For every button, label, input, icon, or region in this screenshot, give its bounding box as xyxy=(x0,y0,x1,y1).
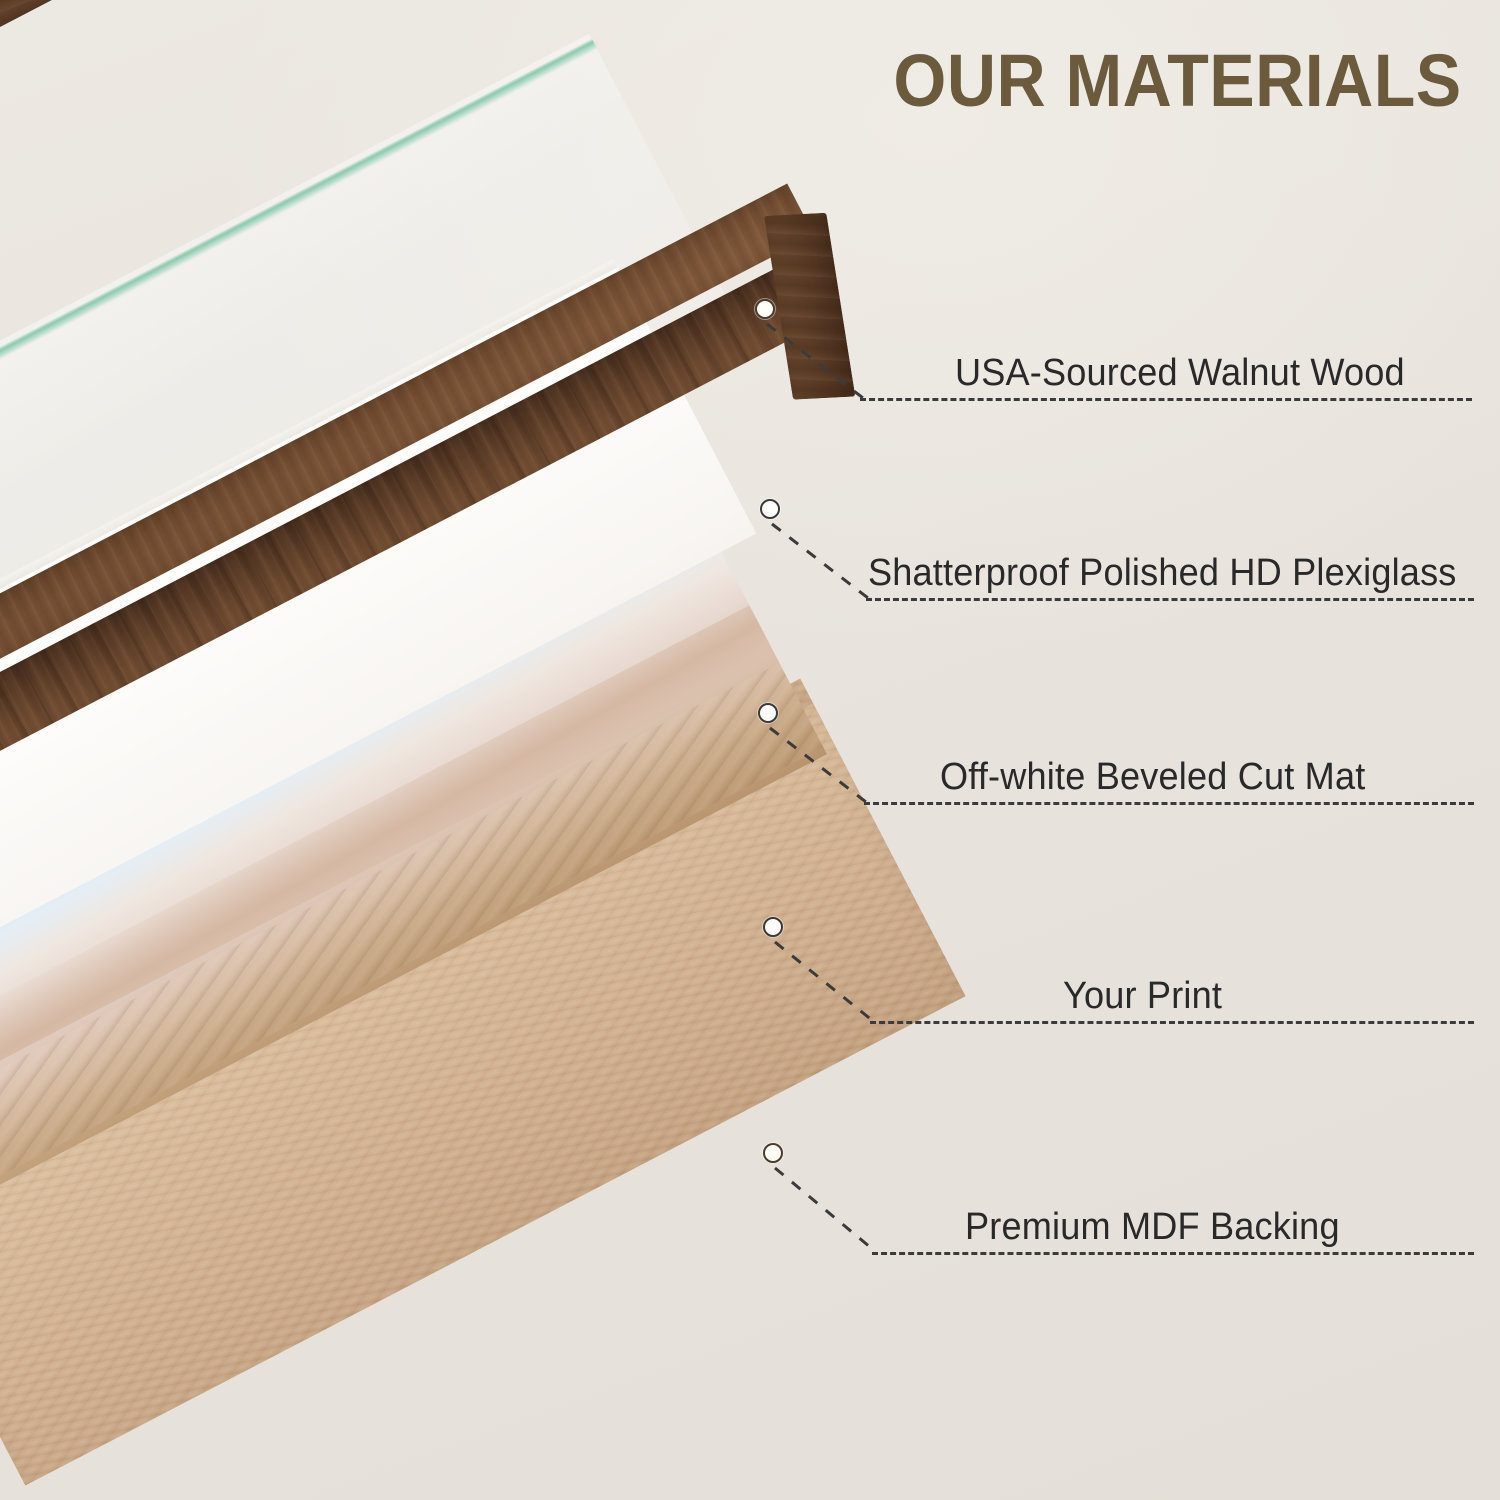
leader-line-mat xyxy=(743,704,903,814)
callout-label-mdf: Premium MDF Backing xyxy=(965,1206,1340,1249)
leader-line-mdf xyxy=(748,1144,913,1264)
callout-label-plexiglass: Shatterproof Polished HD Plexiglass xyxy=(868,552,1457,595)
callout-label-walnut-wood: USA-Sourced Walnut Wood xyxy=(955,352,1405,395)
infographic-canvas: OUR MATERIALS xyxy=(0,0,1500,1500)
leader-line-walnut-wood xyxy=(740,300,900,410)
callout-label-print: Your Print xyxy=(1063,975,1222,1018)
leader-line-print xyxy=(748,918,908,1033)
callout-label-mat: Off-white Beveled Cut Mat xyxy=(940,756,1365,799)
underline-walnut-wood xyxy=(860,398,1472,401)
underline-print xyxy=(870,1021,1474,1024)
underline-mat xyxy=(864,802,1474,805)
underline-plexiglass xyxy=(866,598,1474,601)
frame-rail-top-lip xyxy=(0,0,740,154)
frame-rail-top-inner-channel xyxy=(0,0,738,121)
layer-walnut-frame xyxy=(0,0,990,580)
underline-mdf xyxy=(872,1252,1474,1255)
frame-rail-top-face xyxy=(0,0,754,87)
